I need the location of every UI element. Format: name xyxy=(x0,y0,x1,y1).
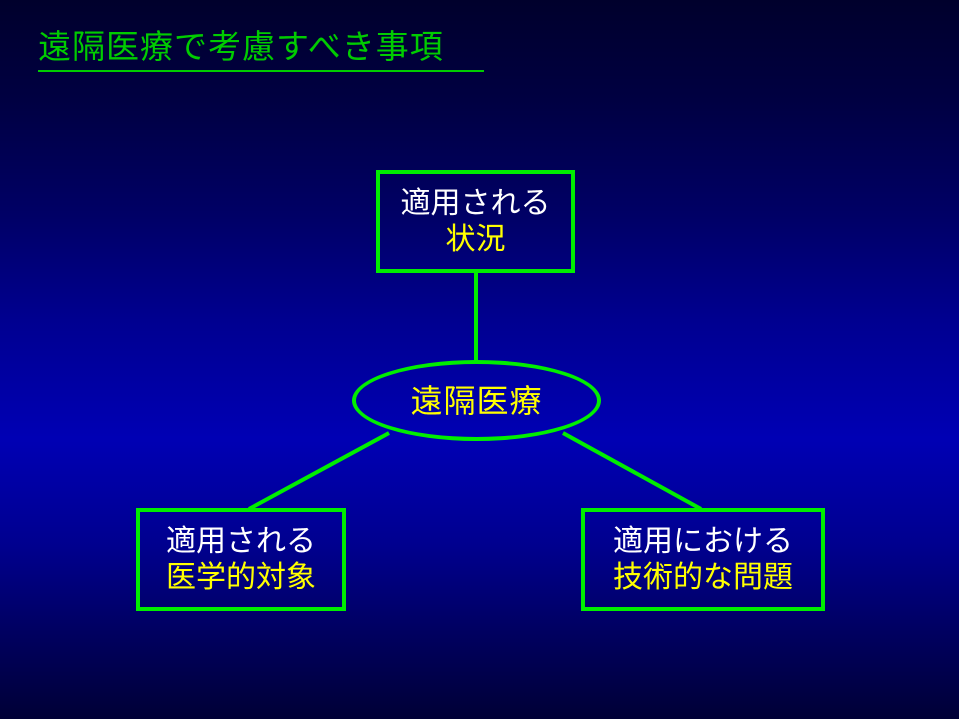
diagram-hub-label: 遠隔医療 xyxy=(410,382,542,420)
diagram-node-bottom-left[interactable]: 適用される 医学的対象 xyxy=(136,508,346,611)
title-underline xyxy=(38,70,484,72)
node-bottom-left-line2: 医学的対象 xyxy=(166,560,316,596)
diagram-node-bottom-right[interactable]: 適用における 技術的な問題 xyxy=(581,508,825,611)
node-top-line2: 状況 xyxy=(446,222,506,258)
diagram-hub-ellipse[interactable]: 遠隔医療 xyxy=(352,360,601,441)
node-bottom-right-line2: 技術的な問題 xyxy=(613,560,793,596)
node-bottom-right-line1: 適用における xyxy=(613,524,793,560)
slide-canvas: 遠隔医療で考慮すべき事項 適用される 状況 遠隔医療 適用される 医学的対象 適… xyxy=(0,0,959,719)
diagram-node-top[interactable]: 適用される 状況 xyxy=(376,170,575,273)
node-top-line1: 適用される xyxy=(401,186,551,222)
connector-hub-to-bottom-left xyxy=(249,433,389,509)
connector-hub-to-bottom-right xyxy=(563,433,701,509)
node-bottom-left-line1: 適用される xyxy=(166,524,316,560)
page-title: 遠隔医療で考慮すべき事項 xyxy=(38,27,444,67)
